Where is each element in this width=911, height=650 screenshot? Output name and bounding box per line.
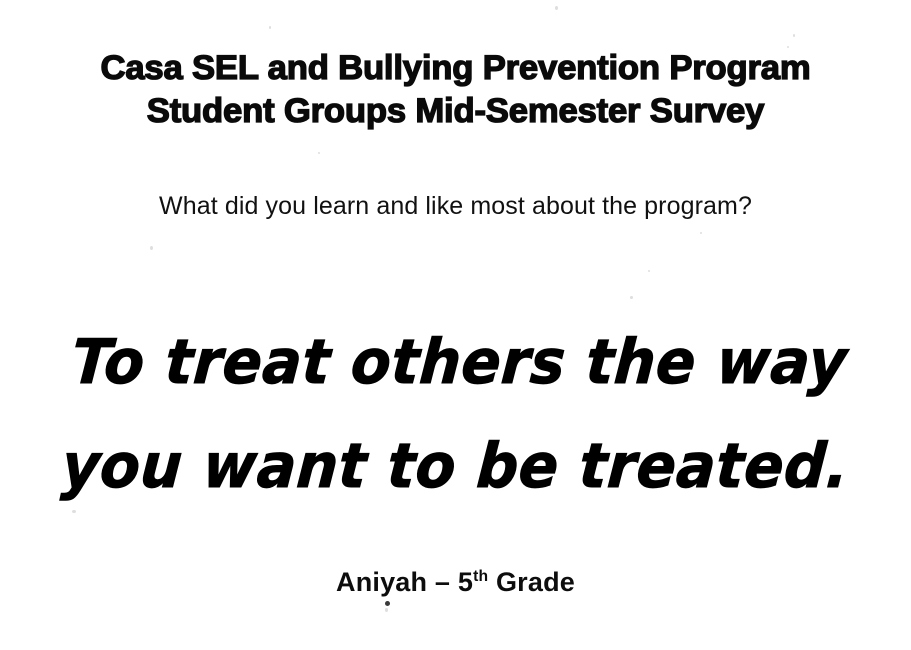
scan-speck [555, 6, 558, 10]
handwritten-response-line-2: you want to be treated. [0, 411, 911, 521]
scan-speck [150, 246, 153, 250]
scan-speck [318, 152, 320, 154]
scan-speck [630, 296, 633, 299]
page-title: Casa SEL and Bullying Prevention Program… [0, 47, 911, 133]
handwritten-response-line-1: To treat others the way [0, 307, 911, 417]
survey-slide-page: Casa SEL and Bullying Prevention Program… [0, 0, 911, 650]
survey-question-text: What did you learn and like most about t… [0, 190, 911, 222]
scan-speck [385, 601, 390, 606]
scan-speck [793, 34, 795, 37]
scan-speck [385, 608, 388, 612]
title-line-survey-name: Student Groups Mid-Semester Survey [0, 89, 911, 133]
title-line-program-name: Casa SEL and Bullying Prevention Program [0, 47, 911, 89]
attribution-separator: – [427, 567, 458, 597]
grade-number: 5 [458, 567, 473, 597]
scan-speck [269, 26, 271, 29]
response-attribution: Aniyah – 5th Grade [0, 565, 911, 599]
scan-speck [700, 232, 702, 234]
handwritten-response: To treat others the way you want to be t… [0, 310, 911, 518]
scan-speck [648, 270, 650, 272]
student-name: Aniyah [336, 567, 427, 597]
grade-ordinal-suffix: th [473, 568, 488, 585]
grade-word: Grade [488, 567, 575, 597]
